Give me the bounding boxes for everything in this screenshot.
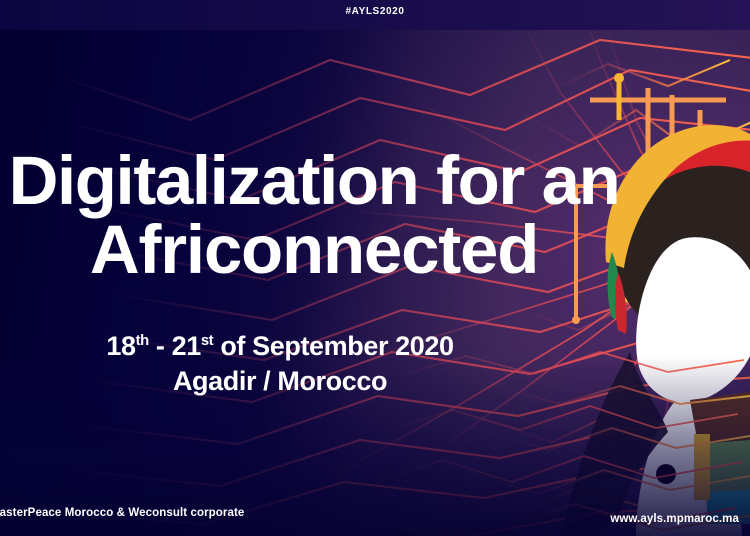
date-day-to: 21	[172, 331, 201, 361]
organizer-credit: MasterPeace Morocco & Weconsult corporat…	[0, 507, 244, 519]
date-day-from: 18	[106, 331, 135, 361]
headline-line-1: Digitalization for an	[9, 142, 620, 219]
conference-poster: #AYLS2020 Digitalization for an Africonn…	[0, 0, 750, 536]
headline-line-2: Africonnected	[0, 217, 664, 284]
event-hashtag: #AYLS2020	[0, 6, 750, 17]
date-day-from-suffix: th	[136, 333, 149, 349]
date-rest: of September 2020	[213, 331, 453, 361]
website-url[interactable]: www.ayls.mpmaroc.ma	[610, 513, 739, 525]
headline: Digitalization for an Africonnected	[0, 148, 664, 284]
date-day-to-suffix: st	[201, 333, 213, 349]
date-separator: -	[149, 331, 172, 361]
event-dates: 18th - 21st of September 2020	[0, 331, 560, 362]
event-location: Agadir / Morocco	[0, 366, 560, 397]
